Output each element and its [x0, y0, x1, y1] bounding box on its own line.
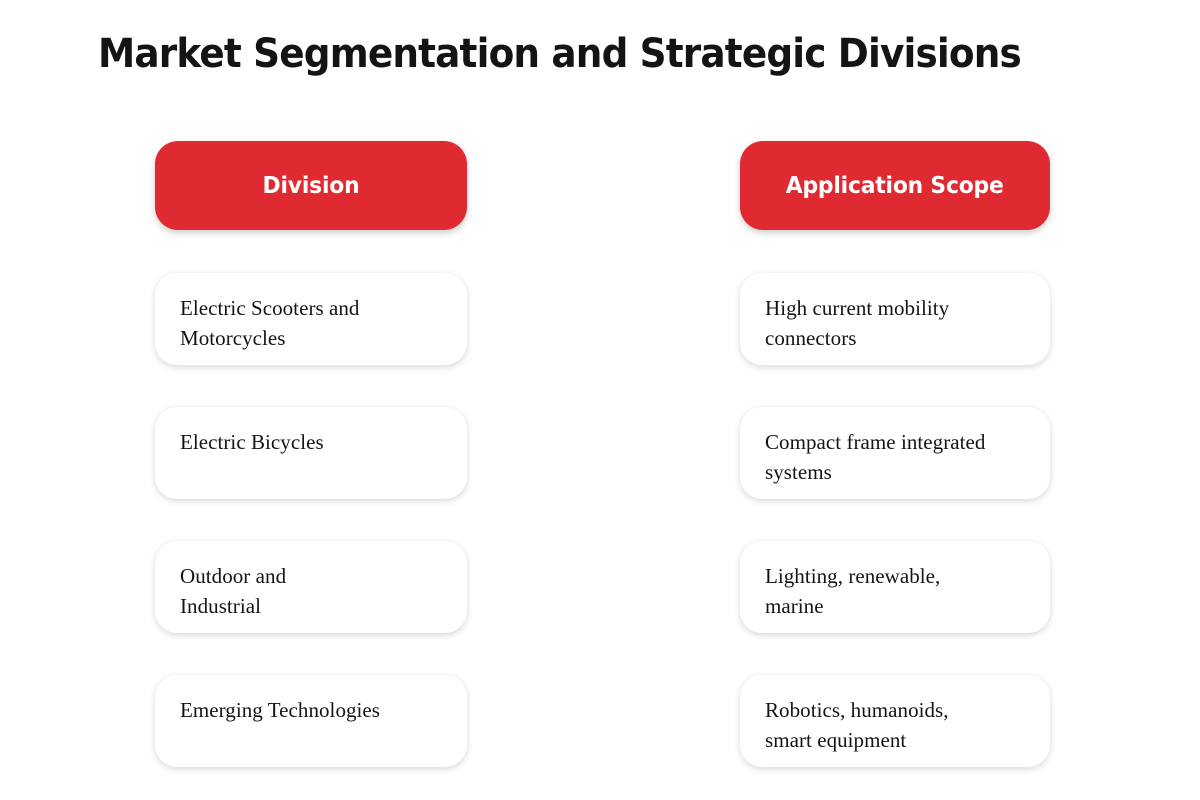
column-header-application-scope[interactable]: Application Scope [740, 141, 1050, 230]
table-row[interactable]: Emerging Technologies [155, 675, 467, 767]
column-header-division[interactable]: Division [155, 141, 467, 230]
comparison-table: Division Electric Scooters and Motorcycl… [0, 0, 1200, 800]
card-text: Electric Scooters and Motorcycles [180, 293, 447, 353]
card-text: Electric Bicycles [180, 427, 447, 457]
table-row[interactable]: Robotics, humanoids, smart equipment [740, 675, 1050, 767]
table-row[interactable]: Electric Scooters and Motorcycles [155, 273, 467, 365]
column-header-label: Division [263, 172, 360, 200]
column-header-label: Application Scope [786, 172, 1004, 200]
table-row[interactable]: Electric Bicycles [155, 407, 467, 499]
table-row[interactable]: Compact frame integrated systems [740, 407, 1050, 499]
card-text: Robotics, humanoids, smart equipment [765, 695, 1030, 755]
card-text: High current mobility connectors [765, 293, 1030, 353]
table-column-application-scope: Application Scope High current mobility … [740, 141, 1050, 767]
card-text: Emerging Technologies [180, 695, 447, 725]
card-text: Lighting, renewable, marine [765, 561, 1030, 621]
table-row[interactable]: Outdoor and Industrial [155, 541, 467, 633]
table-row[interactable]: High current mobility connectors [740, 273, 1050, 365]
table-column-division: Division Electric Scooters and Motorcycl… [155, 141, 467, 767]
card-text: Compact frame integrated systems [765, 427, 1030, 487]
card-text: Outdoor and Industrial [180, 561, 447, 621]
slide-canvas: Market Segmentation and Strategic Divisi… [0, 0, 1200, 800]
table-row[interactable]: Lighting, renewable, marine [740, 541, 1050, 633]
